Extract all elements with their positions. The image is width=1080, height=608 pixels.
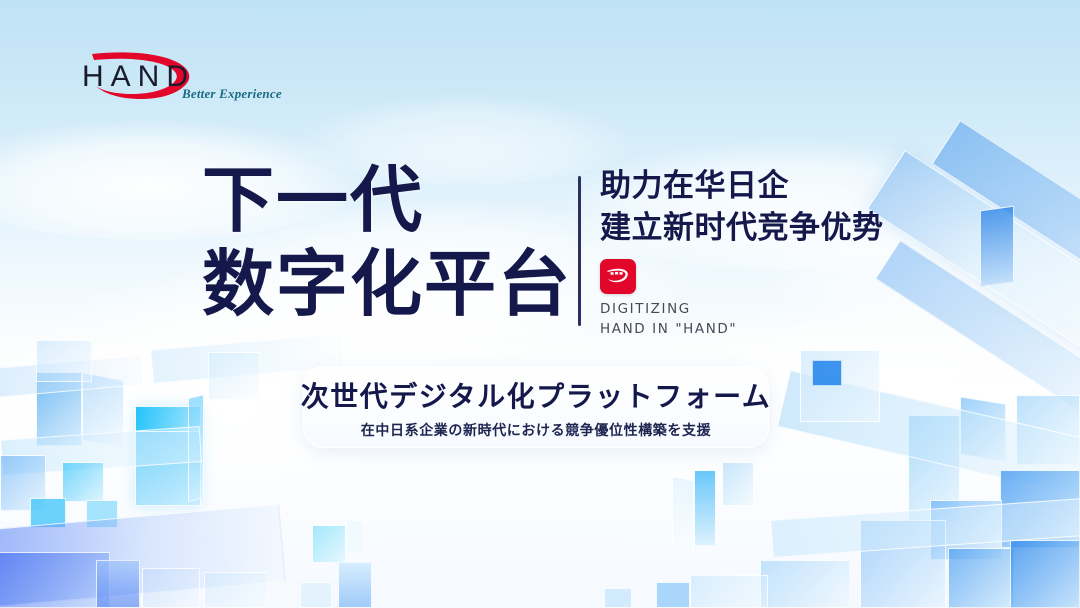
japanese-caption-title: 次世代デジタル化プラットフォーム [301, 375, 772, 415]
glass-block [62, 462, 104, 502]
subtitle-line-1: 助力在华日企 [600, 166, 884, 208]
glass-block [1000, 470, 1080, 548]
promotional-banner: HAND Better Experience 下一代 数字化平台 助力在华日企 … [0, 0, 1080, 608]
glass-block [908, 415, 960, 523]
hand-logo: HAND Better Experience [78, 52, 318, 112]
glass-block [656, 582, 690, 608]
glass-block [980, 206, 1014, 287]
glass-block [694, 470, 716, 546]
english-tagline-line-2: HAND IN "HAND" [600, 320, 737, 340]
hand-wordmark: HAND [82, 60, 195, 94]
glass-block [96, 560, 140, 608]
hand-badge-icon [600, 259, 636, 294]
glass-block [204, 572, 268, 608]
subtitle: 助力在华日企 建立新时代竞争优势 [600, 166, 884, 250]
glass-block [930, 500, 1002, 560]
glass-slab [0, 355, 142, 400]
glass-slab [875, 240, 1080, 420]
page-title-line-2: 数字化平台 [202, 248, 572, 320]
page-title-line-1: 下一代 [202, 164, 572, 236]
glass-block [0, 455, 46, 511]
glass-block [0, 552, 110, 608]
page-title: 下一代 数字化平台 [202, 164, 572, 320]
hand-tagline: Better Experience [182, 86, 282, 102]
japanese-caption-card: 次世代デジタル化プラットフォーム 在中日系企業の新時代における競争優位性構築を支… [303, 366, 769, 448]
glass-block [188, 394, 204, 502]
glass-block [135, 406, 201, 432]
glass-block [1010, 540, 1080, 608]
glass-block [812, 360, 842, 386]
glass-block [338, 562, 372, 608]
glass-slab [0, 504, 286, 608]
glass-block [722, 462, 754, 506]
glass-block [208, 352, 260, 400]
glass-block [36, 372, 82, 446]
glass-block [346, 518, 364, 555]
subtitle-line-2: 建立新时代竞争优势 [600, 208, 884, 250]
english-tagline-line-1: DIGITIZING [600, 300, 737, 320]
glass-block [860, 520, 946, 608]
vertical-divider [578, 176, 581, 326]
glass-block [690, 575, 768, 608]
glass-slab [0, 426, 202, 476]
glass-block [604, 588, 632, 608]
glass-block [300, 582, 332, 608]
japanese-caption-subtitle: 在中日系企業の新時代における競争優位性構築を支援 [361, 420, 711, 440]
glass-block [30, 498, 66, 528]
glass-block [1016, 395, 1080, 465]
glass-block [86, 500, 118, 528]
glass-slab [867, 150, 1080, 383]
glass-block [800, 350, 880, 422]
glass-block [135, 406, 201, 506]
glass-slab [932, 120, 1080, 327]
glass-slab [770, 498, 1080, 558]
glass-block [312, 525, 346, 563]
glass-block [960, 396, 1006, 461]
glass-block [948, 548, 1014, 608]
glass-block [36, 340, 92, 382]
english-tagline: DIGITIZING HAND IN "HAND" [600, 300, 737, 339]
glass-block [672, 476, 694, 551]
glass-slab [777, 370, 1080, 501]
glass-block [82, 372, 124, 448]
glass-block [760, 560, 850, 608]
glass-block [142, 568, 200, 608]
